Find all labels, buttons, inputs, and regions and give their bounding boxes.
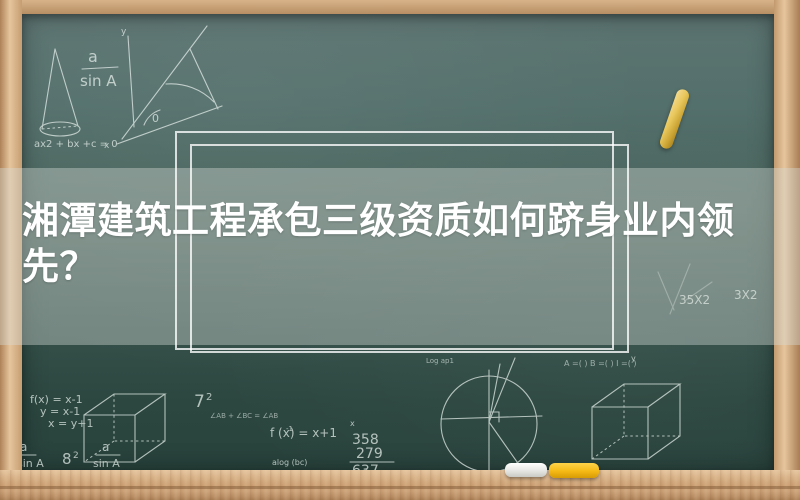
chalk-seven-exp: 2 [206, 392, 212, 403]
chalk-seven: 7 [194, 392, 205, 412]
frame-top-rail [0, 0, 800, 14]
chalk-segment-note: ∠AB + ∠BC = ∠AB [210, 412, 278, 420]
chalk-inverse-exp: -1 [286, 425, 293, 433]
chalk-angle-label: 0 [152, 112, 159, 125]
vertical-addition: 358 279 637 x [350, 419, 394, 470]
chalk-fraction-den-c: sin A [93, 457, 120, 470]
chalk-quadratic-equation: ax2 + bx +c = 0 [34, 139, 118, 150]
cube-drawing-left [84, 394, 165, 462]
ledge-lip [0, 486, 800, 489]
chalk-log-note: alog (bc) [272, 458, 307, 467]
circle-radius-drawing [441, 358, 542, 470]
blackboard-banner: a sin A y x 0 ax2 + bx +c = 0 35X2 3X2 [0, 0, 800, 500]
chalk-fraction-num-c: a [102, 440, 109, 454]
chalk-eight-exp: 2 [73, 451, 79, 461]
chalk-add-sum: 637 [352, 463, 379, 470]
cube-drawing-right [592, 384, 680, 459]
cone-drawing [40, 49, 80, 136]
chalk-add-row2: 279 [356, 446, 383, 462]
chalk-axis-y-label: y [121, 27, 127, 37]
chalk-fraction-denominator: sin A [80, 72, 117, 90]
chalk-fraction-numerator: a [88, 47, 98, 66]
exponent-eight-squared: 8 2 [62, 450, 79, 468]
chalk-fraction-den-bl: sin A [22, 457, 44, 470]
chalk-inverse-fn: f (x) = x+1 [270, 426, 337, 440]
page-title: 湘潭建筑工程承包三级资质如何跻身业内领先？ [22, 198, 784, 290]
chalk-matrix-note: A =( ) B =( ) I =( ) [564, 359, 637, 368]
chalk-axis-x-br: x [350, 419, 355, 428]
fraction-a-over-sinA-bottomleft: a sin A [22, 440, 44, 470]
exponent-seven-squared: 7 2 [194, 392, 212, 412]
chalk-tray-ledge [0, 470, 800, 500]
white-chalk-stick [505, 463, 547, 477]
frame-left-rail [0, 0, 22, 500]
yellow-chalk-stick [549, 463, 599, 478]
chalk-label-3x2: 3X2 [734, 288, 758, 302]
chalk-fn-line-3: x = y+1 [48, 417, 93, 430]
fraction-a-over-sinA-center: a sin A [93, 440, 120, 470]
chalk-eight: 8 [62, 450, 72, 468]
chalk-label-35x2: 35X2 [679, 293, 710, 307]
chalk-fraction-num-bl: a [22, 440, 27, 454]
fraction-a-over-sinA-topleft: a sin A [80, 47, 118, 90]
chalk-log-label: Log ap1 [426, 357, 454, 365]
inverse-function-equation: f (x) = x+1 -1 [270, 425, 337, 440]
